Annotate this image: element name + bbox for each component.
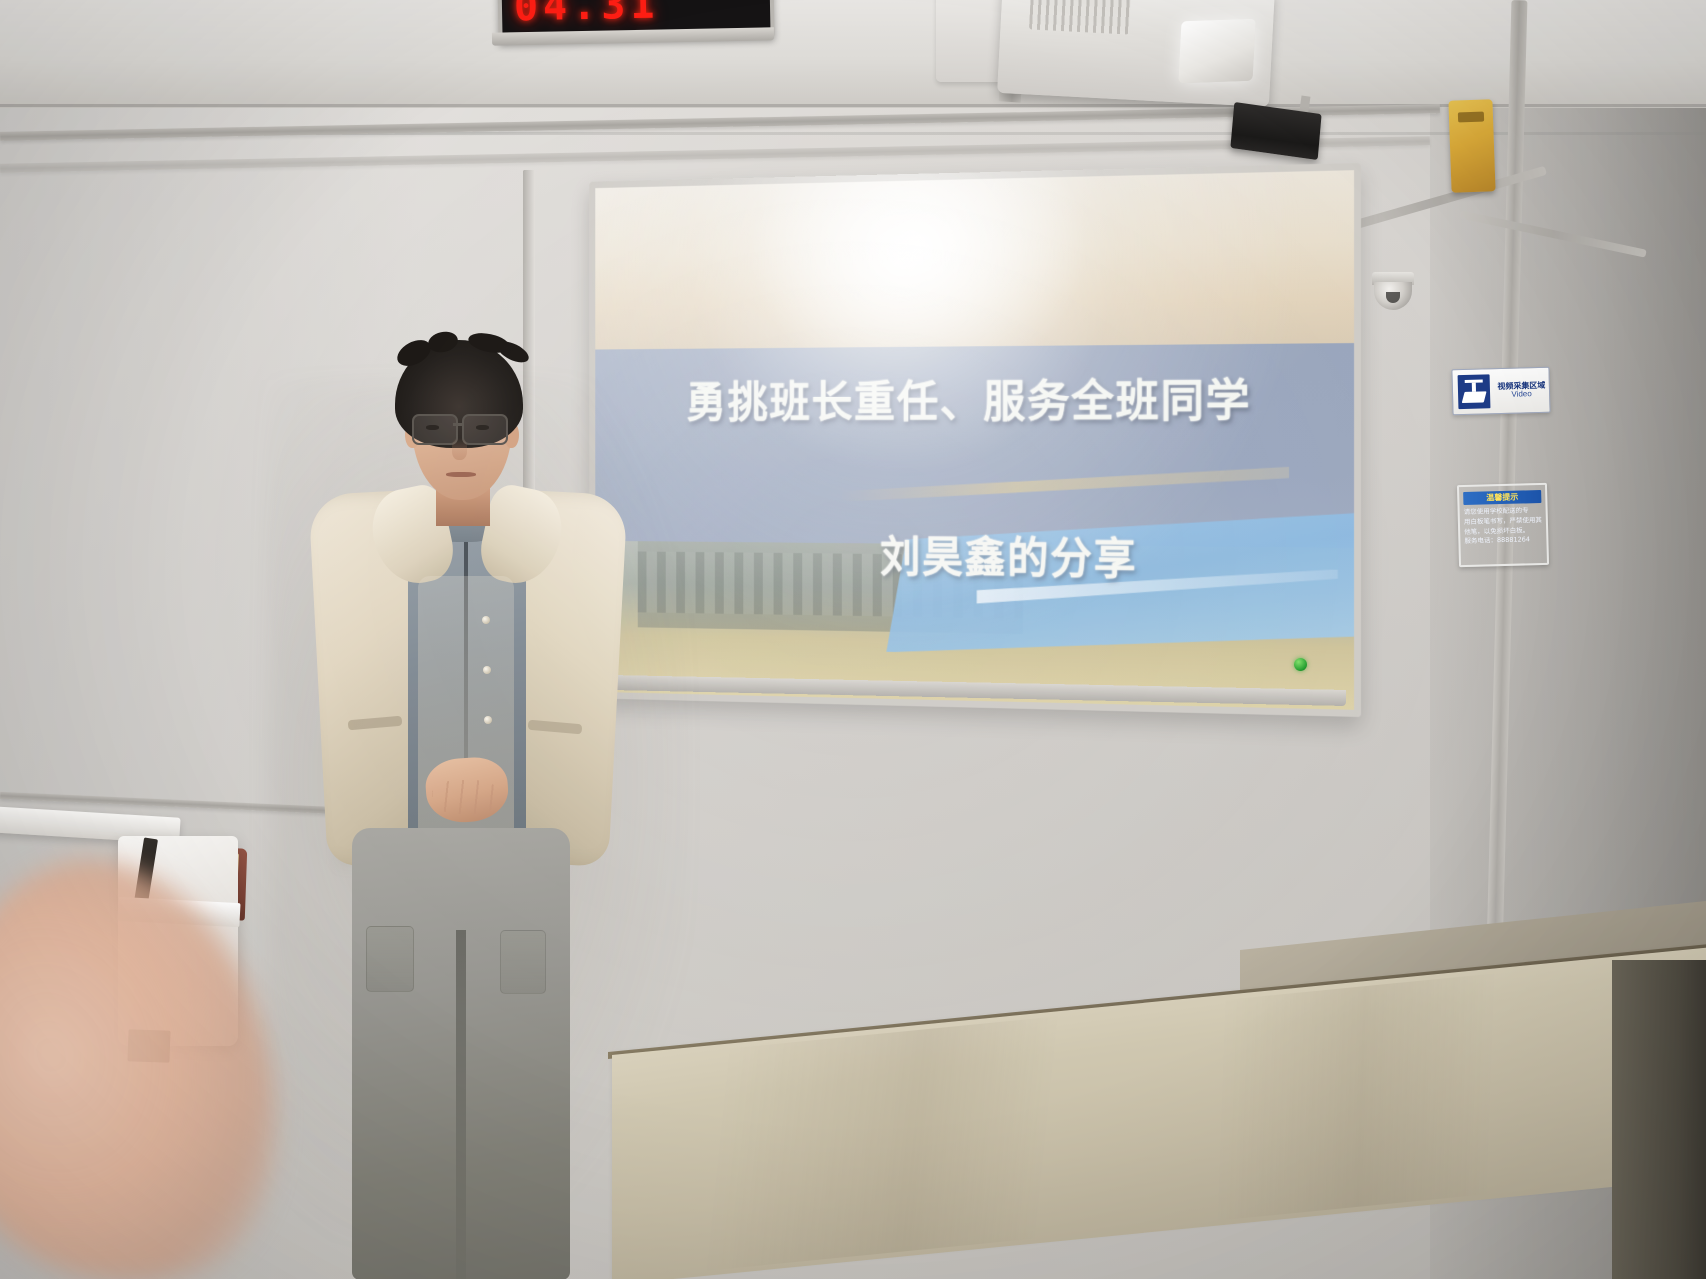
yellow-device-slot (1458, 112, 1484, 123)
video-surveillance-sign: 视频采集区域 Video (1451, 367, 1550, 416)
trouser-cargo-pocket-left (366, 926, 414, 992)
projector-vent (1029, 0, 1131, 35)
classroom-photo: 04.31 勇挑班长重任、服务全班同学 刘昊鑫的分享 (0, 0, 1706, 1279)
hand-fingers (432, 780, 500, 814)
whiteboard-notice-sign: 温馨提示 请您使用学校配送的专 用白板笔书写，严禁使用其 他笔，以免损坏白板。 … (1457, 483, 1549, 567)
led-clock-digits: 04.31 (514, 0, 660, 30)
trouser-inseam (456, 930, 466, 1279)
mouth (446, 472, 476, 477)
video-sign-en: Video (1494, 390, 1549, 400)
jacket-button-2 (483, 666, 491, 674)
trouser-cargo-pocket-right (500, 930, 546, 994)
presenting-student (300, 330, 630, 1279)
nose (452, 438, 467, 460)
slide-title: 勇挑班长重任、服务全班同学 (595, 364, 1354, 430)
projected-slide: 勇挑班长重任、服务全班同学 刘昊鑫的分享 (595, 170, 1354, 710)
projector-lens (1178, 19, 1255, 84)
glasses-bridge (453, 423, 464, 426)
eye-right (476, 425, 489, 430)
interactive-whiteboard[interactable]: 勇挑班长重任、服务全班同学 刘昊鑫的分享 (589, 163, 1361, 717)
green-marker-dot (1294, 658, 1307, 671)
notice-sign-title: 温馨提示 (1463, 490, 1541, 505)
jacket-button-1 (482, 616, 490, 624)
slide-subtitle: 刘昊鑫的分享 (595, 521, 1354, 591)
eye-left (426, 425, 439, 430)
desk-right-support (1612, 960, 1706, 1279)
notice-sign-body: 请您使用学校配送的专 用白板笔书写，严禁使用其 他笔，以免损坏白板。 服务电话：… (1464, 506, 1543, 547)
cctv-camera-body (1462, 391, 1487, 403)
notice-line-2: 用白板笔书写，严禁使用其 (1464, 516, 1542, 528)
video-sign-text: 视频采集区域 Video (1494, 381, 1549, 399)
jacket-button-3 (484, 716, 492, 724)
ceiling-soffit (0, 0, 1706, 108)
cctv-camera-icon (1458, 374, 1491, 409)
notice-line-4: 服务电话：88881264 (1464, 535, 1542, 547)
